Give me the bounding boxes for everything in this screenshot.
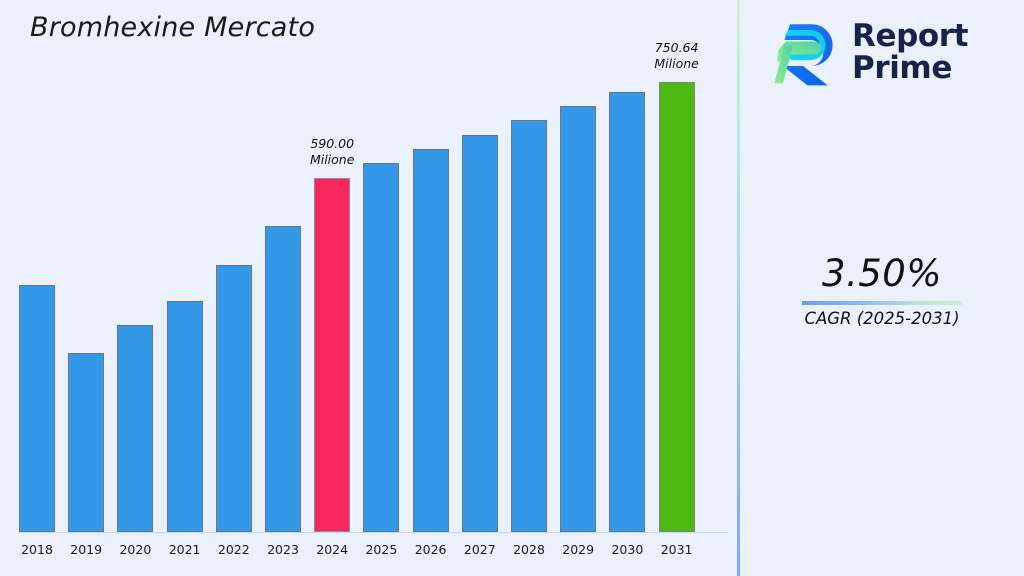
infographic-root: Bromhexine Mercato 590.00Milione750.64Mi… xyxy=(0,0,1024,576)
report-prime-r-mark-icon xyxy=(770,17,842,89)
cagr-caption: CAGR (2025-2031) xyxy=(750,309,1014,328)
bar-2030 xyxy=(609,92,645,532)
x-tick-label-2031: 2031 xyxy=(647,542,707,557)
cagr-value: 3.50% xyxy=(750,252,1014,295)
bar-2026 xyxy=(413,149,449,532)
cagr-block: 3.50% CAGR (2025-2031) xyxy=(750,252,1014,328)
brand-wordmark-line-1: Report xyxy=(852,21,968,53)
bar-2025 xyxy=(363,163,399,532)
bar-value-unit-2024: Milione xyxy=(282,152,382,168)
bar-2029 xyxy=(560,106,596,532)
bar-2024 xyxy=(314,178,350,532)
side-panel: Report Prime 3.50% CAGR (2025-2031) xyxy=(740,0,1024,576)
x-axis-line xyxy=(18,532,728,533)
bar-2027 xyxy=(462,135,498,532)
bar-value-number-2031: 750.64 xyxy=(627,40,727,56)
bar-value-label-2024: 590.00Milione xyxy=(282,136,382,168)
bar-chart-plot-area: 590.00Milione750.64Milione 2018201920202… xyxy=(0,0,738,576)
bar-value-unit-2031: Milione xyxy=(627,56,727,72)
brand-logo: Report Prime xyxy=(770,14,1010,92)
bar-2019 xyxy=(68,353,104,532)
bar-2031 xyxy=(659,82,695,532)
bar-2021 xyxy=(167,301,203,532)
bar-2028 xyxy=(511,120,547,532)
bar-2022 xyxy=(216,265,252,532)
bar-2018 xyxy=(19,285,55,532)
cagr-divider xyxy=(802,301,962,305)
bar-2020 xyxy=(117,325,153,532)
bar-value-number-2024: 590.00 xyxy=(282,136,382,152)
brand-wordmark-line-2: Prime xyxy=(852,53,968,85)
bar-2023 xyxy=(265,226,301,532)
brand-wordmark: Report Prime xyxy=(852,21,968,84)
chart-panel: Bromhexine Mercato 590.00Milione750.64Mi… xyxy=(0,0,738,576)
bar-value-label-2031: 750.64Milione xyxy=(627,40,727,72)
